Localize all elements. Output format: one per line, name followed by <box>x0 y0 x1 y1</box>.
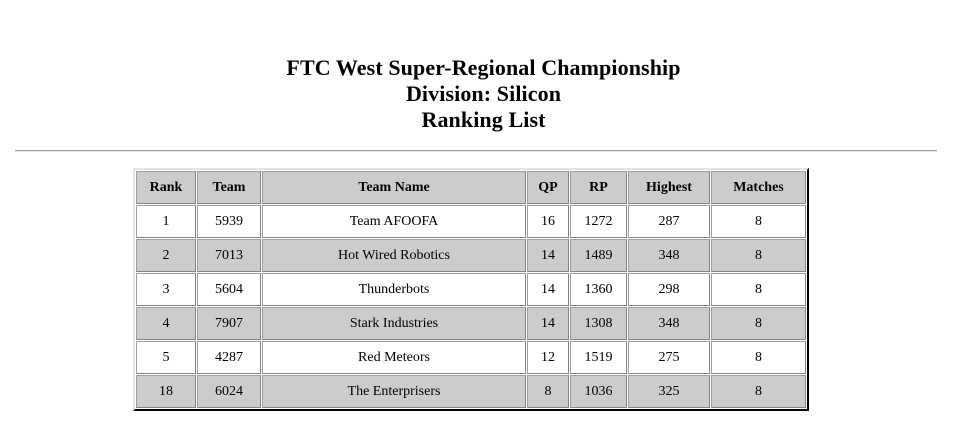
cell-rank: 3 <box>136 273 196 306</box>
ranking-table-container: Rank Team Team Name QP RP Highest Matche… <box>133 168 809 411</box>
cell-teamname: Stark Industries <box>262 307 526 340</box>
cell-matches: 8 <box>711 239 806 272</box>
cell-teamname: Thunderbots <box>262 273 526 306</box>
table-body: 1 5939 Team AFOOFA 16 1272 287 8 2 7013 … <box>136 205 806 408</box>
cell-qp: 8 <box>527 375 569 408</box>
cell-qp: 14 <box>527 307 569 340</box>
table-header-row: Rank Team Team Name QP RP Highest Matche… <box>136 171 806 204</box>
table-row: 5 4287 Red Meteors 12 1519 275 8 <box>136 341 806 374</box>
cell-rp: 1308 <box>570 307 627 340</box>
title-line-event: FTC West Super-Regional Championship <box>0 55 967 81</box>
column-header-qp[interactable]: QP <box>527 171 569 204</box>
column-header-rp[interactable]: RP <box>570 171 627 204</box>
table-header: Rank Team Team Name QP RP Highest Matche… <box>136 171 806 204</box>
cell-teamname: Red Meteors <box>262 341 526 374</box>
header-divider <box>15 150 937 152</box>
cell-highest: 298 <box>628 273 710 306</box>
cell-highest: 348 <box>628 307 710 340</box>
cell-rp: 1272 <box>570 205 627 238</box>
cell-qp: 14 <box>527 273 569 306</box>
cell-team: 5939 <box>197 205 261 238</box>
cell-team: 5604 <box>197 273 261 306</box>
cell-matches: 8 <box>711 307 806 340</box>
cell-rp: 1519 <box>570 341 627 374</box>
cell-qp: 12 <box>527 341 569 374</box>
cell-qp: 14 <box>527 239 569 272</box>
page-title: FTC West Super-Regional Championship Div… <box>0 0 967 133</box>
cell-matches: 8 <box>711 375 806 408</box>
cell-teamname: Team AFOOFA <box>262 205 526 238</box>
table-row: 3 5604 Thunderbots 14 1360 298 8 <box>136 273 806 306</box>
column-header-rank[interactable]: Rank <box>136 171 196 204</box>
cell-teamname: The Enterprisers <box>262 375 526 408</box>
cell-team: 7907 <box>197 307 261 340</box>
cell-matches: 8 <box>711 341 806 374</box>
table-row: 2 7013 Hot Wired Robotics 14 1489 348 8 <box>136 239 806 272</box>
ranking-table: Rank Team Team Name QP RP Highest Matche… <box>133 168 809 411</box>
cell-rp: 1489 <box>570 239 627 272</box>
title-line-division: Division: Silicon <box>0 81 967 107</box>
cell-team: 4287 <box>197 341 261 374</box>
cell-matches: 8 <box>711 273 806 306</box>
cell-matches: 8 <box>711 205 806 238</box>
cell-rank: 1 <box>136 205 196 238</box>
table-row: 1 5939 Team AFOOFA 16 1272 287 8 <box>136 205 806 238</box>
table-row: 18 6024 The Enterprisers 8 1036 325 8 <box>136 375 806 408</box>
cell-team: 6024 <box>197 375 261 408</box>
cell-rp: 1360 <box>570 273 627 306</box>
column-header-matches[interactable]: Matches <box>711 171 806 204</box>
cell-rank: 5 <box>136 341 196 374</box>
cell-highest: 325 <box>628 375 710 408</box>
cell-teamname: Hot Wired Robotics <box>262 239 526 272</box>
cell-rank: 2 <box>136 239 196 272</box>
ranking-page: FTC West Super-Regional Championship Div… <box>0 0 967 433</box>
cell-highest: 275 <box>628 341 710 374</box>
column-header-teamname[interactable]: Team Name <box>262 171 526 204</box>
cell-rp: 1036 <box>570 375 627 408</box>
table-row: 4 7907 Stark Industries 14 1308 348 8 <box>136 307 806 340</box>
column-header-team[interactable]: Team <box>197 171 261 204</box>
horizontal-rule <box>15 150 937 152</box>
cell-qp: 16 <box>527 205 569 238</box>
cell-highest: 287 <box>628 205 710 238</box>
cell-highest: 348 <box>628 239 710 272</box>
title-line-subtitle: Ranking List <box>0 107 967 133</box>
column-header-highest[interactable]: Highest <box>628 171 710 204</box>
cell-team: 7013 <box>197 239 261 272</box>
cell-rank: 18 <box>136 375 196 408</box>
cell-rank: 4 <box>136 307 196 340</box>
